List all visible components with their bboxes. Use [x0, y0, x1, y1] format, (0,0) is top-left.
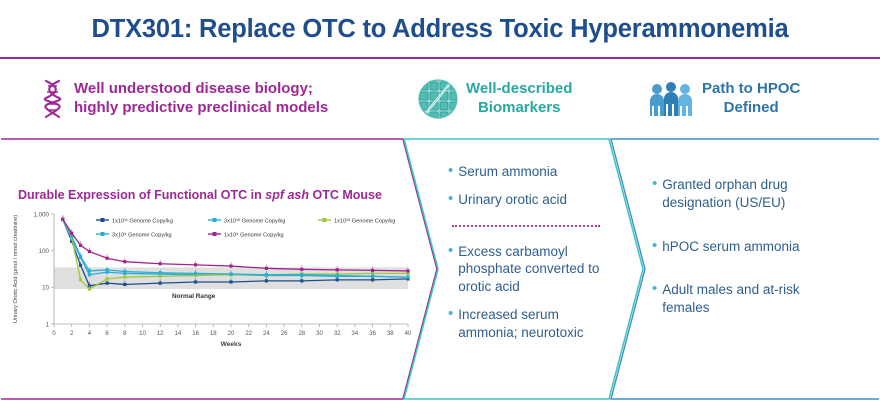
data-point-marker	[265, 273, 268, 276]
x-tick-label: 6	[105, 331, 109, 337]
data-point-marker	[61, 218, 64, 221]
x-tick-label: 12	[157, 331, 164, 337]
data-point-marker	[79, 244, 82, 247]
data-point-marker	[336, 268, 339, 271]
legend-label: 3x10¹⁰ Genome Copy/kg	[224, 217, 285, 224]
chart-container: Durable Expression of Functional OTC in …	[8, 188, 418, 383]
x-tick-label: 24	[263, 331, 270, 337]
data-point-marker	[229, 264, 232, 267]
data-point-marker	[79, 278, 82, 281]
normal-range-label: Normal Range	[172, 293, 216, 300]
data-point-marker	[371, 278, 374, 281]
bullet-item-text: hPOC serum ammonia	[662, 238, 847, 256]
chart-title: Durable Expression of Functional OTC in …	[18, 188, 418, 202]
legend-marker	[323, 218, 327, 222]
right-panel-bullets: •Granted orphan drug designation (US/EU)…	[652, 176, 847, 343]
data-point-marker	[88, 273, 91, 276]
data-point-marker	[106, 282, 109, 285]
data-point-marker	[300, 273, 303, 276]
bullet-divider	[452, 225, 600, 227]
pillar-header-text-1: Well understood disease biology; highly …	[74, 80, 328, 118]
bullet-item-text: Excess carbamoyl phosphate converted to …	[458, 243, 608, 296]
middle-panel-bullets: •Serum ammonia•Urinary orotic acid •Exce…	[448, 163, 608, 352]
x-tick-label: 32	[334, 331, 341, 337]
pillar-header-text-2: Well-described Biomarkers	[466, 80, 572, 118]
x-tick-label: 4	[88, 331, 92, 337]
y-tick-label: 1	[46, 321, 50, 328]
data-point-marker	[336, 278, 339, 281]
middle-bullets-bottom: •Excess carbamoyl phosphate converted to…	[448, 243, 608, 342]
data-point-marker	[194, 280, 197, 283]
data-point-marker	[194, 272, 197, 275]
bullet-item-text: Adult males and at-risk females	[662, 281, 847, 317]
title-underline-rule	[0, 57, 880, 59]
chart-title-pre: Durable Expression of Functional OTC in	[18, 188, 265, 202]
chart-title-post: OTC Mouse	[309, 188, 382, 202]
page-title: DTX301: Replace OTC to Address Toxic Hyp…	[92, 15, 789, 44]
x-tick-label: 36	[369, 331, 376, 337]
data-point-marker	[159, 262, 162, 265]
data-point-marker	[106, 268, 109, 271]
legend-marker	[101, 218, 105, 222]
data-point-marker	[159, 282, 162, 285]
data-point-marker	[70, 232, 73, 235]
legend-marker	[101, 232, 105, 236]
bullet-dot-icon: •	[448, 191, 453, 208]
data-point-marker	[229, 272, 232, 275]
bullet-dot-icon: •	[448, 243, 453, 260]
data-point-marker	[371, 275, 374, 278]
bullet-item-text: Urinary orotic acid	[458, 191, 608, 209]
x-tick-label: 20	[228, 331, 235, 337]
x-tick-label: 8	[123, 331, 127, 337]
data-point-marker	[88, 269, 91, 272]
chart-title-italic: spf ash	[265, 188, 309, 202]
series-line	[63, 219, 408, 271]
data-point-marker	[79, 255, 82, 258]
x-tick-label: 30	[316, 331, 323, 337]
bullet-item: •Urinary orotic acid	[448, 191, 608, 209]
legend-label: 3x10⁹ Genome Copy/kg	[112, 231, 172, 238]
data-point-marker	[79, 264, 82, 267]
x-tick-label: 26	[281, 331, 288, 337]
x-tick-label: 22	[245, 331, 252, 337]
bullet-item-text: Serum ammonia	[458, 163, 608, 181]
data-point-marker	[123, 260, 126, 263]
y-tick-label: 1,000	[34, 211, 50, 218]
chart-plot-area: Normal Range1101001,00002468101214161820…	[8, 206, 413, 356]
data-point-marker	[123, 276, 126, 279]
x-tick-label: 14	[175, 331, 182, 337]
pillar-1-line2: highly predictive preclinical models	[74, 99, 328, 116]
data-point-marker	[265, 279, 268, 282]
legend-marker	[213, 232, 217, 236]
bullet-item: •Excess carbamoyl phosphate converted to…	[448, 243, 608, 296]
pillar-header-biomarkers: Well-described Biomarkers	[418, 62, 648, 136]
y-tick-label: 100	[39, 248, 50, 255]
middle-bullets-top: •Serum ammonia•Urinary orotic acid	[448, 163, 608, 209]
chart-svg: Normal Range1101001,00002468101214161820…	[8, 206, 413, 356]
bullet-dot-icon: •	[652, 281, 657, 298]
pillar-2-line1: Well-described	[466, 80, 572, 97]
bullet-item: •Granted orphan drug designation (US/EU)	[652, 176, 847, 212]
data-point-marker	[106, 277, 109, 280]
x-tick-label: 2	[70, 331, 74, 337]
bullet-item-text: Granted orphan drug designation (US/EU)	[662, 176, 847, 212]
x-axis-label: Weeks	[221, 341, 242, 348]
petri-dish-icon	[418, 79, 458, 119]
x-tick-label: 18	[210, 331, 217, 337]
bullet-dot-icon: •	[652, 176, 657, 193]
bullet-item: •hPOC serum ammonia	[652, 238, 847, 256]
x-tick-label: 16	[192, 331, 199, 337]
data-point-marker	[106, 257, 109, 260]
bullet-item: •Adult males and at-risk females	[652, 281, 847, 317]
dna-helix-icon	[40, 78, 66, 120]
slide-title-bar: DTX301: Replace OTC to Address Toxic Hyp…	[0, 0, 880, 58]
data-point-marker	[123, 283, 126, 286]
data-point-marker	[300, 268, 303, 271]
x-tick-label: 0	[52, 331, 56, 337]
legend-label: 1x10⁹ Genome Copy/kg	[224, 231, 284, 238]
data-point-marker	[406, 276, 409, 279]
data-point-marker	[88, 287, 91, 290]
x-tick-label: 10	[139, 331, 146, 337]
data-point-marker	[406, 269, 409, 272]
y-tick-label: 10	[42, 285, 49, 292]
data-point-marker	[88, 250, 91, 253]
bullet-item-text: Increased serum ammonia; neurotoxic	[458, 306, 608, 342]
pillar-header-hpoc: Path to HPOC Defined	[648, 62, 880, 136]
pillar-3-line1: Path to HPOC	[702, 80, 800, 97]
bullet-item: •Serum ammonia	[448, 163, 608, 181]
bullet-dot-icon: •	[448, 306, 453, 323]
data-point-marker	[336, 274, 339, 277]
legend-label: 1x10¹⁰ Genome Copy/kg	[334, 217, 395, 224]
slide-root: DTX301: Replace OTC to Address Toxic Hyp…	[0, 0, 880, 403]
bullet-dot-icon: •	[652, 238, 657, 255]
pillar-3-line2: Defined	[724, 99, 779, 116]
data-point-marker	[229, 280, 232, 283]
pillar-header-disease-biology: Well understood disease biology; highly …	[40, 62, 420, 136]
x-tick-label: 28	[298, 331, 305, 337]
three-people-icon	[648, 81, 694, 117]
data-point-marker	[159, 275, 162, 278]
right-bullets-list: •Granted orphan drug designation (US/EU)…	[652, 176, 847, 317]
legend-marker	[213, 218, 217, 222]
x-tick-label: 38	[387, 331, 394, 337]
bullet-dot-icon: •	[448, 163, 453, 180]
x-tick-label: 34	[352, 331, 359, 337]
pillar-1-line1: Well understood disease biology;	[74, 80, 313, 97]
data-point-marker	[300, 279, 303, 282]
y-axis-label: Urinary Orotic Acid (µmol / mmol creatin…	[13, 215, 19, 323]
data-point-marker	[159, 271, 162, 274]
pillar-2-line2: Biomarkers	[478, 99, 561, 116]
legend-label: 1x10¹¹ Genome Copy/kg	[112, 218, 173, 224]
x-tick-label: 40	[405, 331, 412, 337]
data-point-marker	[123, 270, 126, 273]
pillar-header-row: Well understood disease biology; highly …	[0, 62, 880, 136]
pillar-header-text-3: Path to HPOC Defined	[702, 80, 800, 118]
data-point-marker	[265, 267, 268, 270]
data-point-marker	[371, 269, 374, 272]
panel-row: Durable Expression of Functional OTC in …	[0, 138, 880, 403]
data-point-marker	[194, 263, 197, 266]
bullet-item: •Increased serum ammonia; neurotoxic	[448, 306, 608, 342]
